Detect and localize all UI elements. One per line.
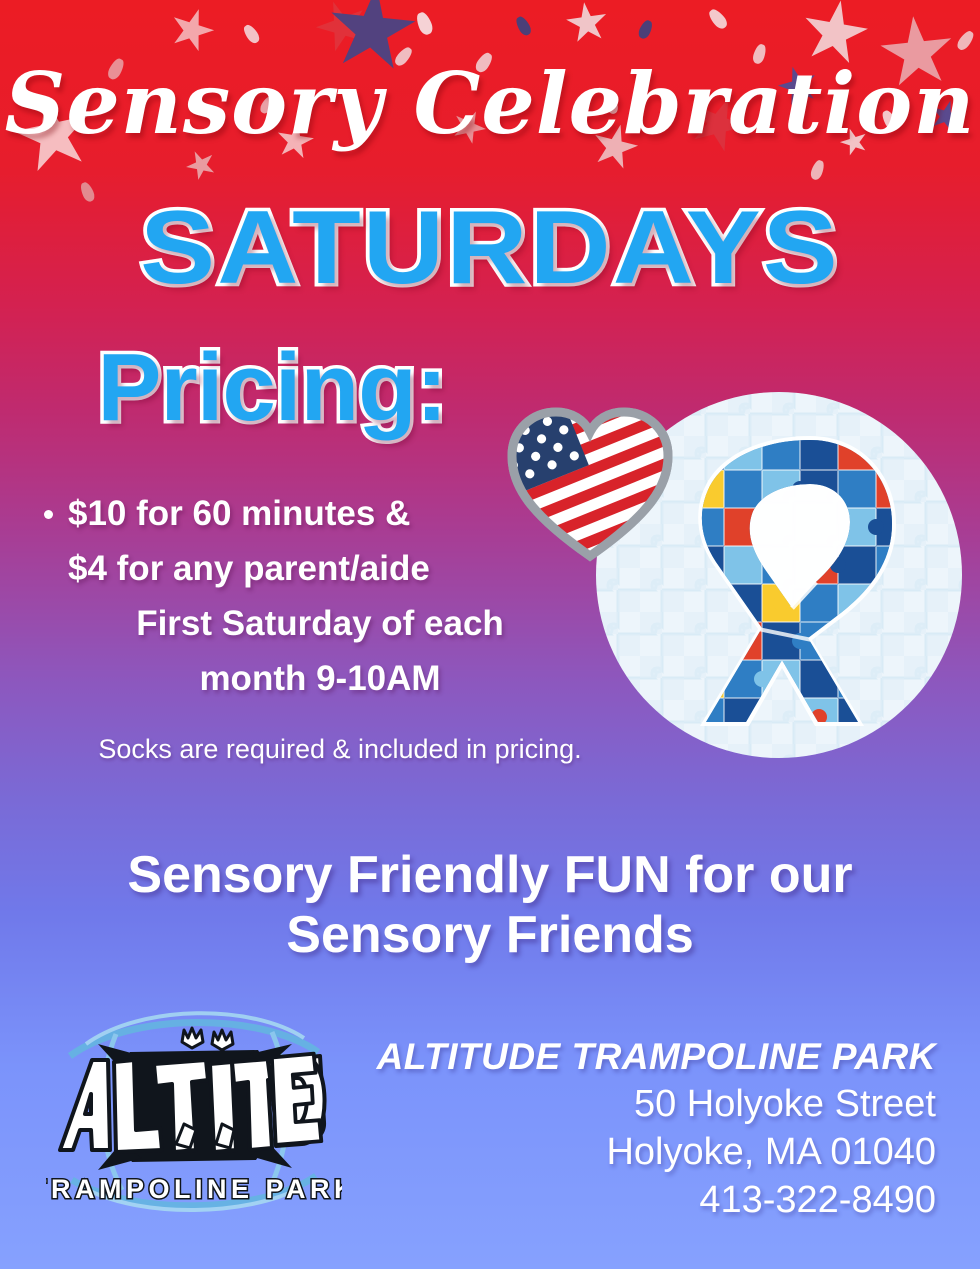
logo-subtitle-text: TRAMPOLINE PARK bbox=[46, 1174, 342, 1204]
star-confetti bbox=[563, 0, 610, 47]
socks-requirement-note: Socks are required & included in pricing… bbox=[30, 733, 650, 765]
tagline-line-2: Sensory Friends bbox=[40, 905, 940, 965]
confetti-chip bbox=[809, 159, 826, 182]
venue-name: ALTITUDE TRAMPOLINE PARK bbox=[316, 1034, 936, 1080]
star-confetti bbox=[164, 2, 219, 57]
tagline-line-1: Sensory Friendly FUN for our bbox=[40, 845, 940, 905]
confetti-chip bbox=[241, 23, 261, 46]
tagline: Sensory Friendly FUN for our Sensory Fri… bbox=[40, 845, 940, 965]
confetti-chip bbox=[955, 29, 976, 52]
pricing-line-4: month 9-10AM bbox=[30, 651, 610, 706]
confetti-chip bbox=[514, 15, 534, 38]
bullet-icon bbox=[44, 510, 53, 519]
venue-address-block: ALTITUDE TRAMPOLINE PARK 50 Holyoke Stre… bbox=[316, 1034, 936, 1224]
page-title-script: Sensory Celebration bbox=[0, 62, 980, 146]
flyer-poster: Sensory Celebration SATURDAYS Pricing: $… bbox=[0, 0, 980, 1269]
star-confetti bbox=[309, 0, 376, 59]
altitude-trampoline-park-logo: TRAMPOLINE PARK bbox=[46, 1004, 342, 1218]
venue-city-state: Holyoke, MA 01040 bbox=[316, 1128, 936, 1176]
confetti-chip bbox=[637, 19, 655, 41]
confetti-chip bbox=[414, 10, 435, 36]
venue-phone[interactable]: 413-322-8490 bbox=[316, 1176, 936, 1224]
confetti-chip bbox=[706, 7, 729, 32]
pricing-line-3: First Saturday of each bbox=[30, 596, 610, 651]
usa-flag-heart-icon bbox=[506, 404, 674, 564]
page-title-saturdays: SATURDAYS bbox=[0, 196, 980, 300]
pricing-line-1-text: $10 for 60 minutes & bbox=[68, 494, 410, 533]
venue-street: 50 Holyoke Street bbox=[316, 1080, 936, 1128]
pricing-heading: Pricing: bbox=[22, 340, 522, 436]
